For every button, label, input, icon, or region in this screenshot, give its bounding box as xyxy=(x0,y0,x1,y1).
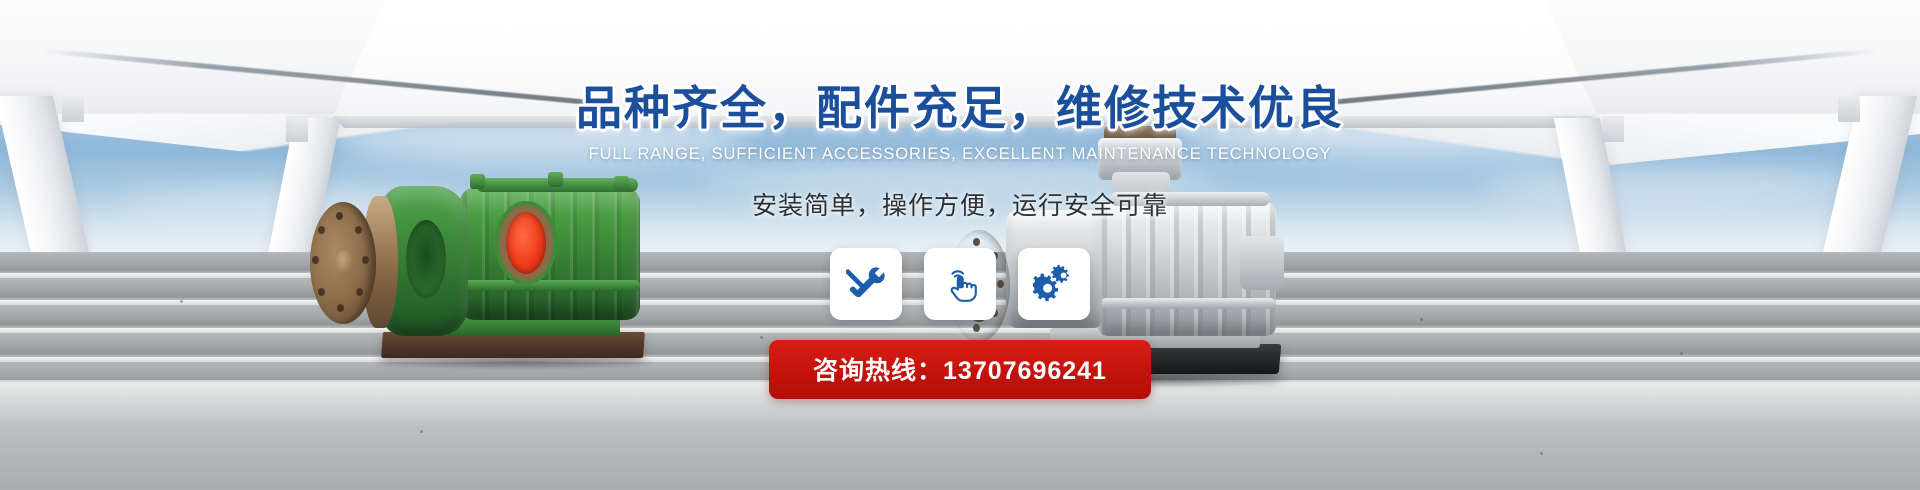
click-hand-icon xyxy=(940,264,980,304)
banner-subtitle-english: FULL RANGE, SUFFICIENT ACCESSORIES, EXCE… xyxy=(0,145,1920,164)
tools-icon xyxy=(846,264,886,304)
banner-headline: 品种齐全，配件充足，维修技术优良 xyxy=(0,0,1920,138)
feature-icon-box-gears[interactable] xyxy=(1018,248,1090,320)
feature-icon-row xyxy=(0,248,1920,320)
banner-content: 品种齐全，配件充足，维修技术优良 FULL RANGE, SUFFICIENT … xyxy=(0,0,1920,399)
feature-icon-box-click-hand[interactable] xyxy=(924,248,996,320)
banner-subtitle-chinese: 安装简单，操作方便，运行安全可靠 xyxy=(0,186,1920,222)
floor-speck xyxy=(420,430,423,433)
hotline-banner[interactable]: 咨询热线：13707696241 xyxy=(769,340,1151,399)
hotline-container: 咨询热线：13707696241 xyxy=(0,340,1920,399)
promotional-banner: 品种齐全，配件充足，维修技术优良 FULL RANGE, SUFFICIENT … xyxy=(0,0,1920,490)
gears-icon xyxy=(1033,263,1075,305)
floor-speck xyxy=(1540,452,1543,455)
feature-icon-box-tools[interactable] xyxy=(830,248,902,320)
